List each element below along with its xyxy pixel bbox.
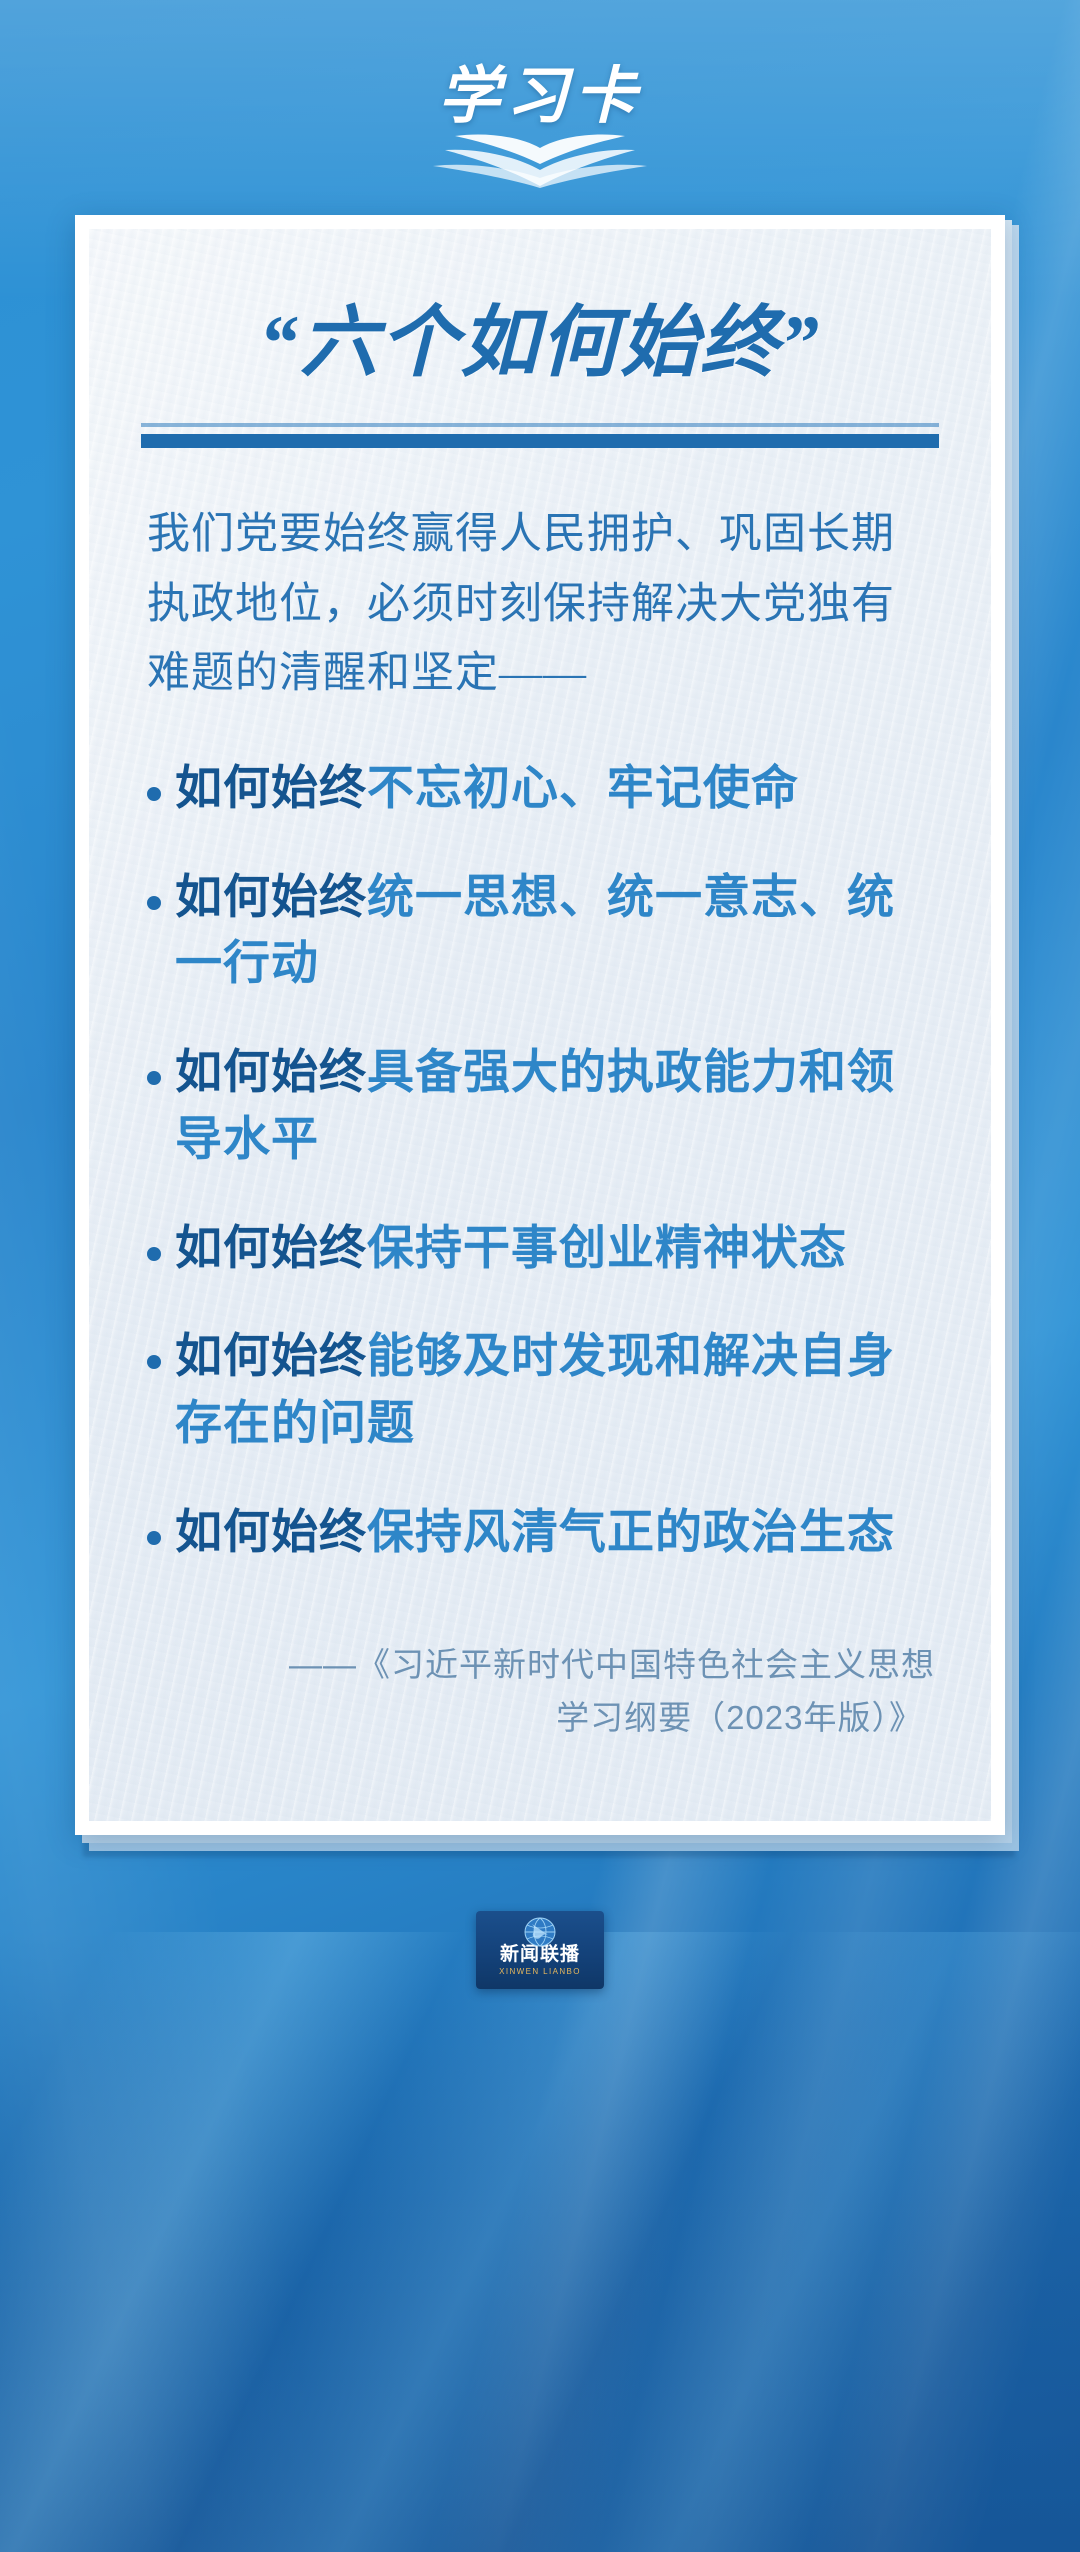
bullet-text: 如何始终保持干事创业精神状态 <box>175 1215 847 1282</box>
bullet-rest: 保持干事创业精神状态 <box>367 1221 847 1274</box>
bullet-text: 如何始终保持风清气正的政治生态 <box>175 1499 895 1566</box>
source-attribution: ——《习近平新时代中国特色社会主义思想 学习纲要（2023年版）》 <box>141 1638 935 1745</box>
open-book-icon <box>415 130 665 188</box>
bullet-lead: 如何始终 <box>175 1221 367 1274</box>
bullet-dot-icon <box>147 1247 161 1261</box>
bullet-lead: 如何始终 <box>175 761 367 814</box>
title-divider <box>141 423 939 448</box>
bullet-rest: 不忘初心、牢记使命 <box>367 761 799 814</box>
bullet-text: 如何始终能够及时发现和解决自身存在的问题 <box>175 1323 939 1456</box>
list-item: 如何始终不忘初心、牢记使命 <box>141 755 939 822</box>
bullet-text: 如何始终具备强大的执政能力和领导水平 <box>175 1039 939 1172</box>
bullet-rest: 保持风清气正的政治生态 <box>367 1505 895 1558</box>
footer: 新闻联播 XINWEN LIANBO <box>0 1835 1080 2065</box>
poster: 学习卡 “六个如何始终” <box>0 0 1080 2552</box>
attribution-line-2: 学习纲要（2023年版）》 <box>141 1691 935 1744</box>
card-title: “六个如何始终” <box>141 287 939 417</box>
content-card-wrapper: “六个如何始终” 我们党要始终赢得人民拥护、巩固长期执政地位，必须时刻保持解决大… <box>75 215 1005 1835</box>
bullet-lead: 如何始终 <box>175 870 367 923</box>
bullet-text: 如何始终统一思想、统一意志、统一行动 <box>175 864 939 997</box>
list-item: 如何始终保持干事创业精神状态 <box>141 1215 939 1282</box>
list-item: 如何始终统一思想、统一意志、统一行动 <box>141 864 939 997</box>
bullet-list: 如何始终不忘初心、牢记使命 如何始终统一思想、统一意志、统一行动 如何始终具备强… <box>141 755 939 1566</box>
bullet-dot-icon <box>147 1531 161 1545</box>
bullet-dot-icon <box>147 896 161 910</box>
bullet-lead: 如何始终 <box>175 1045 367 1098</box>
bullet-dot-icon <box>147 1071 161 1085</box>
list-item: 如何始终能够及时发现和解决自身存在的问题 <box>141 1323 939 1456</box>
bullet-text: 如何始终不忘初心、牢记使命 <box>175 755 799 822</box>
intro-paragraph: 我们党要始终赢得人民拥护、巩固长期执政地位，必须时刻保持解决大党独有难题的清醒和… <box>147 500 933 709</box>
brand-logo: 学习卡 <box>390 28 690 188</box>
bullet-dot-icon <box>147 787 161 801</box>
list-item: 如何始终保持风清气正的政治生态 <box>141 1499 939 1566</box>
badge-title-en: XINWEN LIANBO <box>499 1968 581 1976</box>
content-card: “六个如何始终” 我们党要始终赢得人民拥护、巩固长期执政地位，必须时刻保持解决大… <box>75 215 1005 1835</box>
brand-title: 学习卡 <box>438 66 642 128</box>
list-item: 如何始终具备强大的执政能力和领导水平 <box>141 1039 939 1172</box>
bullet-lead: 如何始终 <box>175 1329 367 1382</box>
header: 学习卡 <box>0 0 1080 215</box>
globe-icon <box>520 1915 560 1949</box>
xinwen-lianbo-badge: 新闻联播 XINWEN LIANBO <box>476 1911 604 1989</box>
bullet-lead: 如何始终 <box>175 1505 367 1558</box>
attribution-line-1: ——《习近平新时代中国特色社会主义思想 <box>141 1638 935 1691</box>
bullet-dot-icon <box>147 1355 161 1369</box>
